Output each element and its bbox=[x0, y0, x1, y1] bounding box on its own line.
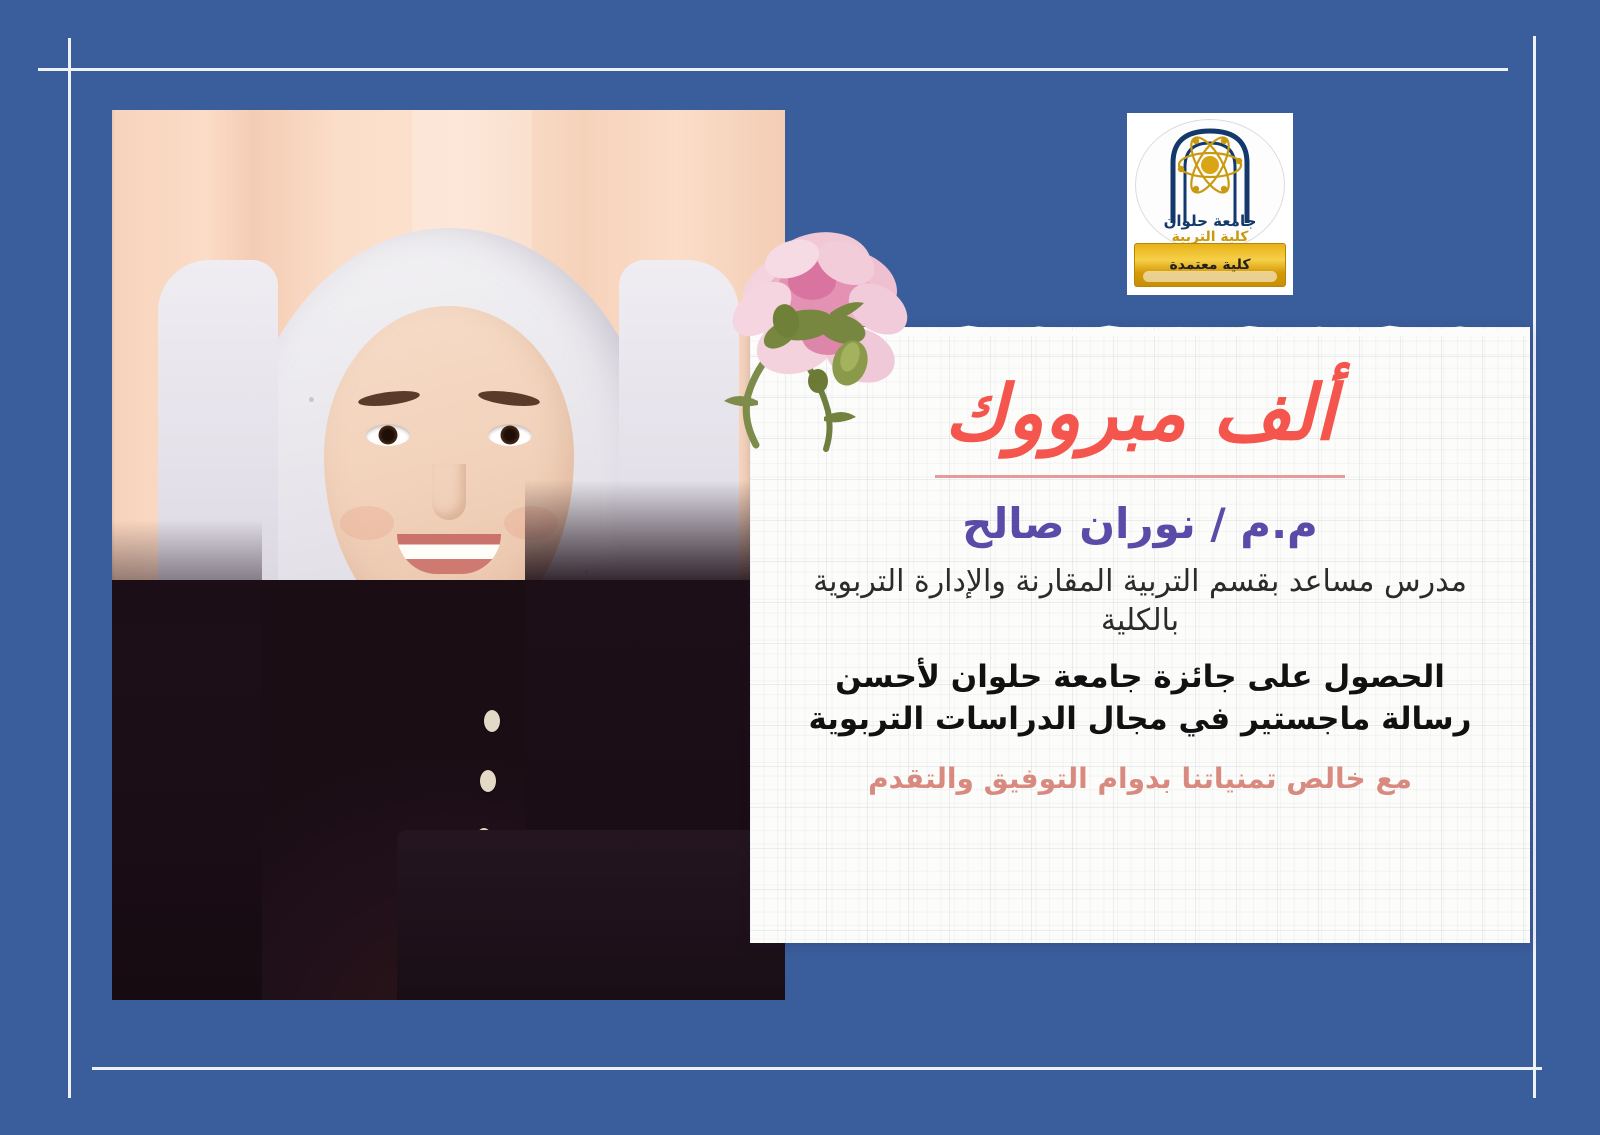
accreditation-ribbon-text: كلية معتمدة bbox=[1170, 257, 1251, 273]
accreditation-ribbon: كلية معتمدة bbox=[1134, 243, 1286, 287]
eyebrow-right bbox=[477, 388, 540, 408]
award-text: الحصول على جائزة جامعة حلوان لأحسن رسالة… bbox=[802, 657, 1478, 741]
eye-left bbox=[366, 424, 410, 446]
pupil-right bbox=[500, 426, 519, 445]
podium bbox=[397, 830, 785, 1000]
headline: ألف مبرووك bbox=[944, 371, 1335, 455]
logo-university-name: جامعة حلوان bbox=[1164, 212, 1257, 230]
frame-line-right bbox=[1533, 36, 1536, 1098]
cheek-left bbox=[340, 506, 394, 540]
frame-line-bottom bbox=[92, 1067, 1542, 1070]
divider bbox=[935, 475, 1345, 478]
congratulations-poster: جامعة حلوان كلية التربية كلية معتمدة ألف… bbox=[0, 0, 1600, 1135]
person-name: م.م / نوران صالح bbox=[962, 500, 1318, 548]
logo-emblem-circle: جامعة حلوان كلية التربية bbox=[1135, 119, 1285, 251]
pink-rose-flower-icon bbox=[700, 205, 940, 455]
pupil-left bbox=[378, 426, 397, 445]
garment-button bbox=[480, 770, 496, 792]
nose bbox=[432, 464, 466, 520]
garment-button bbox=[484, 710, 500, 732]
pink-rose-decoration bbox=[700, 205, 940, 455]
robe-left-panel bbox=[112, 520, 262, 1000]
eyebrow-left bbox=[357, 388, 420, 408]
frame-line-left bbox=[68, 38, 71, 1098]
frame-line-top bbox=[38, 68, 1508, 71]
job-title: مدرس مساعد بقسم التربية المقارنة والإدار… bbox=[802, 562, 1478, 641]
university-logo: جامعة حلوان كلية التربية كلية معتمدة bbox=[1127, 113, 1293, 295]
portrait-photo bbox=[112, 110, 785, 1000]
wishes-text: مع خالص تمنياتنا بدوام التوفيق والتقدم bbox=[868, 761, 1412, 797]
eye-right bbox=[488, 424, 532, 446]
